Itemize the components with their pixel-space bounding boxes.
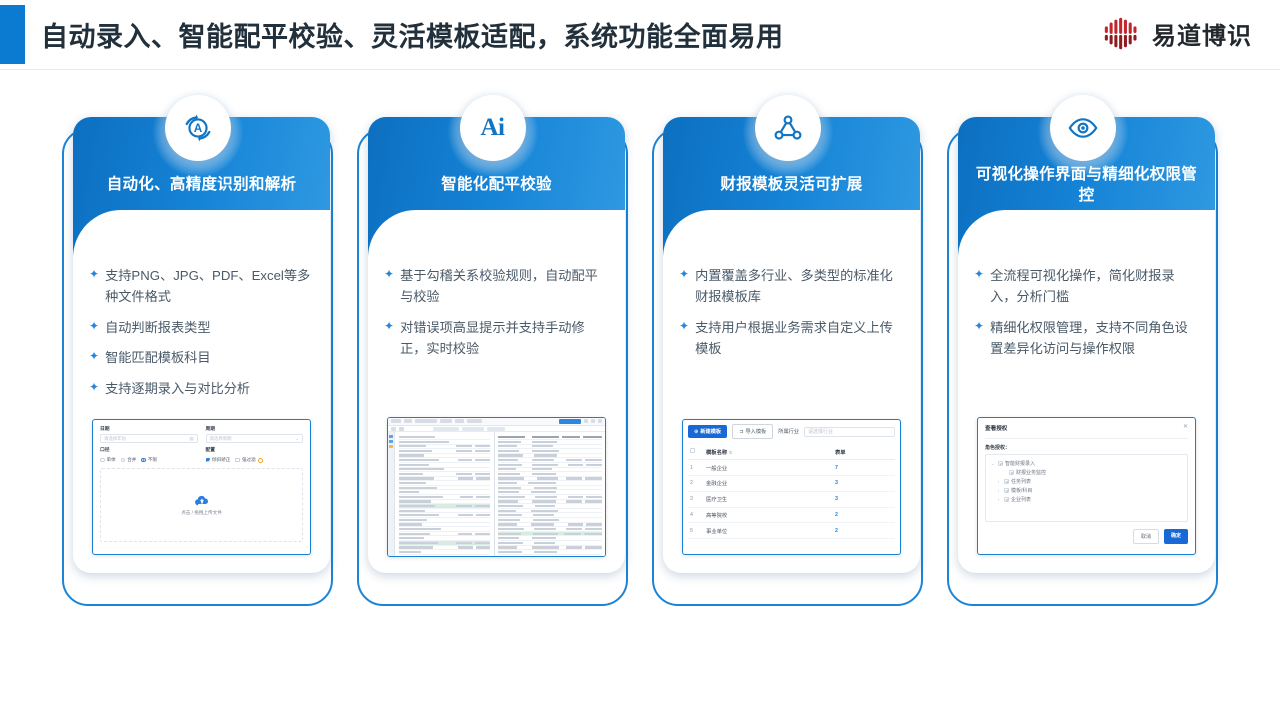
- tree-checkbox[interactable]: [998, 461, 1003, 466]
- plus-circle-icon: ⊕: [694, 429, 698, 435]
- tree-node-label: 任务列表: [1011, 478, 1031, 485]
- svg-text:A: A: [193, 122, 202, 135]
- row-form-count[interactable]: 2: [833, 507, 895, 523]
- bullet-text: 支持逐期录入与对比分析: [105, 378, 313, 399]
- help-icon[interactable]: [258, 458, 263, 463]
- slide-root: 自动录入、智能配平校验、灵活模板适配，系统功能全面易用: [0, 0, 1280, 720]
- tree-checkbox[interactable]: [1004, 488, 1009, 493]
- card-1-screenshot: 日期 请选择年份 ▤ 周期 请选择周期 ⌄: [92, 419, 311, 555]
- list-item: ✦ 智能匹配模板科目: [89, 347, 313, 368]
- ai-icon: Ai: [481, 114, 505, 142]
- diamond-bullet-icon: ✦: [974, 265, 984, 285]
- radio-label: 单体: [107, 457, 116, 463]
- table-row[interactable]: 1 一般企业 7: [688, 460, 895, 476]
- list-item: ✦ 支持用户根据业务需求自定义上传模板: [679, 317, 903, 360]
- caliber-label: 口径: [100, 446, 198, 453]
- tree-checkbox[interactable]: [1004, 497, 1009, 502]
- period-select-placeholder: 请选择周期: [210, 436, 232, 442]
- checkbox-strongfilter[interactable]: 强过滤: [235, 457, 262, 463]
- list-item: ✦ 全流程可视化操作，简化财报录入，分析门槛: [974, 265, 1198, 308]
- spreadsheet-toolbar: [388, 418, 605, 426]
- card-2-badge: Ai: [460, 95, 526, 161]
- config-label: 配置: [206, 446, 304, 453]
- period-select[interactable]: 请选择周期 ⌄: [206, 434, 304, 443]
- row-form-count[interactable]: 2: [833, 523, 895, 539]
- radio-option-single[interactable]: 单体: [100, 457, 116, 463]
- new-template-button[interactable]: ⊕ 新建模板: [688, 425, 727, 438]
- diamond-bullet-icon: ✦: [974, 317, 984, 337]
- template-toolbar: ⊕ 新建模板 ⊐ 导入模板 所属行业 请选择行业: [688, 424, 895, 439]
- radio-icon: [121, 458, 126, 463]
- card-4-badge: [1050, 95, 1116, 161]
- card-4-title: 可视化操作界面与精细化权限管控: [958, 165, 1215, 207]
- new-template-label: 新建模板: [700, 428, 721, 435]
- page-thumbnail-rail[interactable]: [388, 432, 395, 556]
- date-input[interactable]: 请选择年份 ▤: [100, 434, 198, 443]
- card-2-title: 智能化配平校验: [368, 175, 625, 196]
- calendar-icon: ▤: [189, 436, 193, 442]
- close-icon[interactable]: ✕: [1183, 424, 1188, 430]
- checkbox-label: 倾斜矫正: [212, 457, 230, 463]
- card-2-screenshot: [387, 417, 606, 557]
- table-header-row: 模板名称 ⇅ 表单: [688, 444, 895, 459]
- radio-label: 不限: [148, 457, 157, 463]
- list-item: ✦ 支持逐期录入与对比分析: [89, 378, 313, 399]
- checkbox-label: 强过滤: [242, 457, 256, 463]
- bullet-text: 支持用户根据业务需求自定义上传模板: [695, 317, 903, 360]
- list-item: ✦ 对错误项高显提示并支持手动修正，实时校验: [384, 317, 608, 360]
- card-1-badge: A: [165, 95, 231, 161]
- bullet-text: 内置覆盖多行业、多类型的标准化财报模板库: [695, 265, 903, 308]
- tree-node-label: 企业列表: [1011, 496, 1031, 503]
- feature-card-4[interactable]: 可视化操作界面与精细化权限管控 ✦ 全流程可视化操作，简化财报录入，分析门槛 ✦…: [947, 128, 1218, 606]
- bullet-text: 基于勾稽关系校验规则，自动配平与校验: [400, 265, 608, 308]
- chevron-right-icon[interactable]: ›: [996, 488, 1001, 493]
- page-title: 自动录入、智能配平校验、灵活模板适配，系统功能全面易用: [41, 15, 784, 54]
- tree-checkbox[interactable]: [1004, 479, 1009, 484]
- extracted-table-pane[interactable]: [495, 432, 605, 556]
- diamond-bullet-icon: ✦: [89, 265, 99, 285]
- row-form-count[interactable]: 3: [833, 491, 895, 507]
- table-row[interactable]: 3 医疗卫生 3: [688, 491, 895, 507]
- save-button[interactable]: [559, 419, 581, 424]
- tree-checkbox[interactable]: [1009, 470, 1014, 475]
- chevron-right-icon[interactable]: ›: [996, 479, 1001, 484]
- column-header-name: 模板名称 ⇅: [704, 444, 833, 459]
- header-accent-bar: [0, 5, 25, 64]
- bullet-text: 支持PNG、JPG、PDF、Excel等多种文件格式: [105, 265, 313, 308]
- list-item: ✦ 基于勾稽关系校验规则，自动配平与校验: [384, 265, 608, 308]
- checkbox-icon: [235, 458, 240, 463]
- diamond-bullet-icon: ✦: [384, 265, 394, 285]
- row-index: 5: [688, 523, 704, 539]
- bullet-text: 自动判断报表类型: [105, 317, 313, 338]
- tree-node-label: 模板/科目: [1011, 487, 1032, 494]
- card-4-bullets: ✦ 全流程可视化操作，简化财报录入，分析门槛 ✦ 精细化权限管理，支持不同角色设…: [958, 265, 1215, 369]
- confirm-button[interactable]: 确定: [1164, 529, 1188, 544]
- card-3-badge: [755, 95, 821, 161]
- dropzone-text: 点击 / 拖拽上传文件: [181, 510, 222, 516]
- spreadsheet-subbar: [388, 426, 605, 433]
- row-form-count[interactable]: 3: [833, 475, 895, 491]
- bullet-text: 智能匹配模板科目: [105, 347, 313, 368]
- import-template-button[interactable]: ⊐ 导入模板: [732, 424, 773, 439]
- logo-text: 易道博识: [1152, 16, 1252, 51]
- permission-tree: ⌄ 智能财报录入 财报业务监控 ›: [985, 454, 1188, 522]
- row-index: 4: [688, 507, 704, 523]
- row-index: 2: [688, 475, 704, 491]
- list-item: ✦ 精细化权限管理，支持不同角色设置差异化访问与操作权限: [974, 317, 1198, 360]
- date-input-placeholder: 请选择年份: [104, 436, 126, 442]
- template-table: 模板名称 ⇅ 表单 1 一般企业 7: [688, 444, 895, 539]
- tree-node[interactable]: › 任务列表: [990, 477, 1183, 486]
- date-field-label: 日期: [100, 425, 198, 432]
- diamond-bullet-icon: ✦: [89, 378, 99, 398]
- radio-option-any[interactable]: 不限: [141, 457, 157, 463]
- brand-logo: 易道博识: [1101, 12, 1252, 54]
- radio-label: 合并: [127, 457, 136, 463]
- card-4-screenshot: 查看授权 ✕ 角色授权： ⌄ 智能财报录入: [977, 417, 1196, 555]
- feature-cards: 自动化、高精度识别和解析 ✦ 支持PNG、JPG、PDF、Excel等多种文件格…: [0, 128, 1280, 628]
- file-dropzone[interactable]: 点击 / 拖拽上传文件: [100, 468, 303, 542]
- source-document-pane[interactable]: [395, 432, 495, 556]
- auto-recognition-icon: A: [180, 110, 216, 146]
- chevron-down-icon: ⌄: [295, 436, 299, 442]
- tree-node[interactable]: ⌄ 智能财报录入: [990, 459, 1183, 468]
- select-all-checkbox[interactable]: [690, 448, 695, 453]
- row-index: 3: [688, 491, 704, 507]
- diamond-bullet-icon: ✦: [384, 317, 394, 337]
- feature-card-1[interactable]: 自动化、高精度识别和解析 ✦ 支持PNG、JPG、PDF、Excel等多种文件格…: [62, 128, 333, 606]
- tree-node[interactable]: › 模板/科目: [990, 486, 1183, 495]
- row-index: 1: [688, 460, 704, 476]
- diamond-bullet-icon: ✦: [89, 347, 99, 367]
- feature-card-2[interactable]: 智能化配平校验 ✦ 基于勾稽关系校验规则，自动配平与校验 ✦ 对错误项高显提示并…: [357, 128, 628, 606]
- checkbox-deskew[interactable]: 倾斜矫正: [206, 457, 231, 463]
- row-template-name: 事业单位: [704, 523, 833, 539]
- table-row[interactable]: 5 事业单位 2: [688, 523, 895, 539]
- dialog-title: 查看授权: [985, 424, 1188, 432]
- card-1-bullets: ✦ 支持PNG、JPG、PDF、Excel等多种文件格式 ✦ 自动判断报表类型 …: [73, 265, 330, 408]
- role-auth-label: 角色授权：: [985, 444, 1188, 451]
- checkbox-icon-checked: [206, 458, 211, 463]
- bullet-text: 对错误项高显提示并支持手动修正，实时校验: [400, 317, 608, 360]
- industry-filter-placeholder: 请选择行业: [808, 428, 833, 435]
- period-field-label: 周期: [206, 425, 304, 432]
- page-header: 自动录入、智能配平校验、灵活模板适配，系统功能全面易用: [0, 0, 1280, 70]
- tree-node[interactable]: 财报业务监控: [990, 468, 1183, 477]
- column-header-forms: 表单: [833, 444, 895, 459]
- tree-node-label: 财报业务监控: [1016, 469, 1046, 476]
- cancel-button[interactable]: 取消: [1133, 529, 1159, 544]
- sort-icon[interactable]: ⇅: [729, 450, 733, 455]
- list-item: ✦ 支持PNG、JPG、PDF、Excel等多种文件格式: [89, 265, 313, 308]
- card-3-screenshot: ⊕ 新建模板 ⊐ 导入模板 所属行业 请选择行业: [682, 419, 901, 555]
- logo-mark-icon: [1101, 12, 1143, 54]
- industry-filter-select[interactable]: 请选择行业: [804, 427, 895, 437]
- cloud-upload-icon: [194, 495, 210, 507]
- row-template-name: 医疗卫生: [704, 491, 833, 507]
- card-1-title: 自动化、高精度识别和解析: [73, 175, 330, 196]
- bullet-text: 精细化权限管理，支持不同角色设置差异化访问与操作权限: [990, 317, 1198, 360]
- list-item: ✦ 内置覆盖多行业、多类型的标准化财报模板库: [679, 265, 903, 308]
- card-3-title: 财报模板灵活可扩展: [663, 175, 920, 196]
- table-row[interactable]: 2 金融企业 3: [688, 475, 895, 491]
- radio-icon: [100, 458, 105, 463]
- tree-node-label: 智能财报录入: [1005, 460, 1035, 467]
- feature-card-3[interactable]: 财报模板灵活可扩展 ✦ 内置覆盖多行业、多类型的标准化财报模板库 ✦ 支持用户根…: [652, 128, 923, 606]
- card-2-bullets: ✦ 基于勾稽关系校验规则，自动配平与校验 ✦ 对错误项高显提示并支持手动修正，实…: [368, 265, 625, 369]
- import-template-label: 导入模板: [745, 428, 766, 435]
- radio-icon-selected: [141, 458, 146, 463]
- chevron-right-icon[interactable]: ›: [996, 497, 1001, 502]
- import-icon: ⊐: [739, 429, 743, 435]
- chevron-down-icon[interactable]: ⌄: [990, 461, 995, 466]
- eye-visualization-icon: [1066, 111, 1100, 145]
- radio-option-merged[interactable]: 合并: [121, 457, 137, 463]
- diamond-bullet-icon: ✦: [89, 317, 99, 337]
- row-template-name: 一般企业: [704, 460, 833, 476]
- diamond-bullet-icon: ✦: [679, 317, 689, 337]
- row-form-count[interactable]: 7: [833, 460, 895, 476]
- list-item: ✦ 自动判断报表类型: [89, 317, 313, 338]
- card-3-bullets: ✦ 内置覆盖多行业、多类型的标准化财报模板库 ✦ 支持用户根据业务需求自定义上传…: [663, 265, 920, 369]
- tree-node[interactable]: › 企业列表: [990, 495, 1183, 504]
- bullet-text: 全流程可视化操作，简化财报录入，分析门槛: [990, 265, 1198, 308]
- industry-filter-label: 所属行业: [778, 428, 799, 435]
- row-template-name: 金融企业: [704, 475, 833, 491]
- diamond-bullet-icon: ✦: [679, 265, 689, 285]
- table-row[interactable]: 4 高等院校 2: [688, 507, 895, 523]
- row-template-name: 高等院校: [704, 507, 833, 523]
- template-share-icon: [771, 111, 805, 145]
